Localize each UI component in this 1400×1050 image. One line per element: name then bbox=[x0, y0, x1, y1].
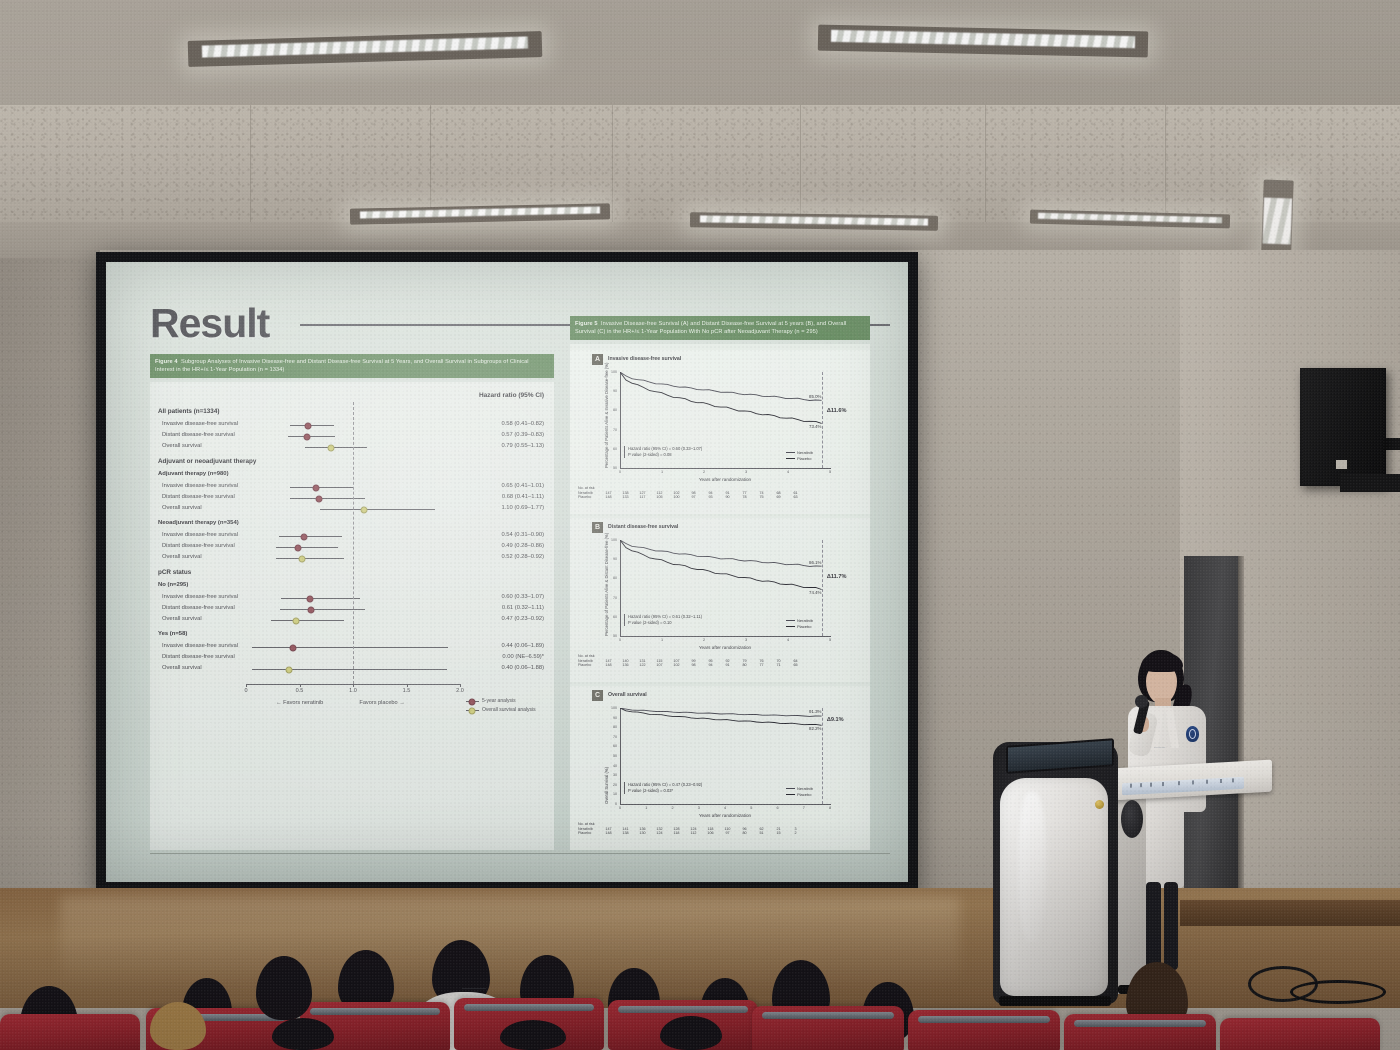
km-risk-cell: 124 bbox=[651, 831, 668, 836]
km-risk-cell: 15 bbox=[770, 831, 787, 836]
km-risk-cell: 97 bbox=[685, 495, 702, 500]
km-x-tick-label: 1 bbox=[645, 806, 647, 810]
forest-plot: Hazard ratio (95% CI)All patients (n=133… bbox=[150, 382, 554, 850]
audience-head bbox=[660, 1016, 722, 1050]
km-x-axis-label: Years after randomization bbox=[620, 813, 830, 818]
km-curve-neratinib bbox=[620, 708, 822, 716]
forest-subgroup-heading: No (n=295) bbox=[158, 582, 188, 588]
slide-footer-rule bbox=[150, 853, 890, 854]
km-curve-placebo bbox=[620, 372, 822, 423]
km-landmark-dashed-line bbox=[822, 540, 823, 636]
forest-row-label: Overall survival bbox=[162, 554, 202, 560]
presenter-leg bbox=[1164, 882, 1178, 970]
km-legend: NeratinibPlacebo bbox=[786, 786, 813, 797]
km-legend-label: Placebo bbox=[797, 456, 811, 461]
projection-screen: Result Figure 4Subgroup Analyses of Inva… bbox=[106, 262, 908, 882]
presentation-slide: Result Figure 4Subgroup Analyses of Inva… bbox=[130, 282, 886, 862]
km-legend-swatch bbox=[786, 458, 795, 459]
km-delta-label: Δ11.6% bbox=[827, 408, 847, 414]
km-x-tick-label: 3 bbox=[745, 470, 747, 474]
seat-headrest-bar bbox=[464, 1004, 594, 1011]
km-legend: NeratinibPlacebo bbox=[786, 450, 813, 461]
km-panel-a: AInvasive disease-free survivalPercentag… bbox=[570, 350, 870, 514]
auditorium-seat bbox=[1220, 1018, 1380, 1050]
km-risk-cell: 91 bbox=[719, 663, 736, 668]
forest-point-estimate-marker bbox=[305, 422, 312, 429]
km-risk-table: No. at riskNeratinib14714013111510799959… bbox=[578, 654, 804, 668]
km-landmark-dashed-line bbox=[822, 708, 823, 804]
km-y-tick-label: 80 bbox=[608, 576, 617, 580]
forest-row-hazard-ratio: 0.54 (0.31–0.90) bbox=[458, 532, 544, 538]
forest-ci-line bbox=[281, 598, 360, 599]
seat-headrest-bar bbox=[618, 1006, 748, 1013]
km-legend-swatch bbox=[786, 620, 795, 621]
figure4-forest-plot-panel: Hazard ratio (95% CI)All patients (n=133… bbox=[150, 382, 554, 850]
km-y-tick-label: 70 bbox=[608, 735, 617, 739]
forest-ci-line bbox=[320, 509, 436, 510]
forest-point-estimate-marker bbox=[300, 533, 307, 540]
forest-ci-line bbox=[252, 669, 447, 670]
forest-axis-tick-label: 1.5 bbox=[403, 688, 411, 694]
figure5-km-panel: AInvasive disease-free survivalPercentag… bbox=[570, 344, 870, 850]
km-y-tick-label: 10 bbox=[608, 792, 617, 796]
km-y-axis-label: Percentage of Patients Alive & Distant D… bbox=[604, 533, 609, 636]
km-risk-cell: 112 bbox=[685, 831, 702, 836]
forest-row-label: Overall survival bbox=[162, 616, 202, 622]
km-percent-upper: 91.3% bbox=[809, 709, 821, 714]
km-panel-badge: A bbox=[592, 354, 603, 365]
km-x-tick-label: 3 bbox=[745, 638, 747, 642]
km-risk-cell: 63 bbox=[787, 495, 804, 500]
km-statistics-box: Hazard ratio (95% CI) = 0.61 (0.32–1.11)… bbox=[624, 614, 702, 626]
auditorium-scene: Result Figure 4Subgroup Analyses of Inva… bbox=[0, 0, 1400, 1050]
forest-point-estimate-marker bbox=[293, 617, 300, 624]
km-x-tick-label: 4 bbox=[787, 470, 789, 474]
forest-group-heading: Adjuvant or neoadjuvant therapy bbox=[158, 458, 256, 465]
forest-subgroup-heading: Yes (n=58) bbox=[158, 631, 187, 637]
forest-point-estimate-marker bbox=[360, 506, 367, 513]
km-y-tick-label: 50 bbox=[608, 634, 617, 638]
forest-row-label: Invasive disease-free survival bbox=[162, 532, 238, 538]
km-x-tick-label: 2 bbox=[671, 806, 673, 810]
km-risk-cell: 51 bbox=[753, 831, 770, 836]
forest-row-label: Invasive disease-free survival bbox=[162, 483, 238, 489]
forest-point-estimate-marker bbox=[315, 495, 322, 502]
km-y-tick-label: 100 bbox=[608, 706, 617, 710]
km-legend-swatch bbox=[786, 788, 795, 789]
forest-row-hazard-ratio: 0.68 (0.41–1.11) bbox=[458, 494, 544, 500]
forest-axis-tick-label: 2.0 bbox=[456, 688, 464, 694]
km-risk-cell: 77 bbox=[753, 663, 770, 668]
forest-row-hazard-ratio: 0.49 (0.28–0.86) bbox=[458, 543, 544, 549]
km-y-tick-label: 60 bbox=[608, 615, 617, 619]
km-risk-cell: 75 bbox=[753, 495, 770, 500]
km-risk-cell: 80 bbox=[736, 831, 753, 836]
km-risk-cell: 98 bbox=[685, 663, 702, 668]
forest-row-hazard-ratio: 0.52 (0.28–0.92) bbox=[458, 554, 544, 560]
km-risk-row-name: Placebo bbox=[578, 831, 600, 836]
forest-axis-tick bbox=[300, 684, 301, 687]
km-risk-table: No. at riskNeratinib14713812711210298949… bbox=[578, 486, 804, 500]
slide-title: Result bbox=[150, 300, 269, 347]
forest-row-label: Distant disease-free survival bbox=[162, 432, 235, 438]
forest-axis-tick-label: 0 bbox=[244, 688, 247, 694]
forest-axis-tick bbox=[246, 684, 247, 687]
forest-point-estimate-marker bbox=[307, 595, 314, 602]
forest-axis-tick bbox=[460, 684, 461, 687]
km-x-tick-label: 1 bbox=[661, 638, 663, 642]
forest-row-label: Distant disease-free survival bbox=[162, 494, 235, 500]
forest-favors-right-label: Favors placebo → bbox=[359, 700, 404, 706]
km-risk-cell: 69 bbox=[770, 495, 787, 500]
km-risk-cell: 122 bbox=[634, 663, 651, 668]
forest-point-estimate-marker bbox=[285, 666, 292, 673]
forest-row-hazard-ratio: 1.10 (0.69–1.77) bbox=[458, 505, 544, 511]
km-y-tick-label: 60 bbox=[608, 447, 617, 451]
forest-row-hazard-ratio: 0.58 (0.41–0.82) bbox=[458, 421, 544, 427]
km-risk-cell: 130 bbox=[634, 831, 651, 836]
presenter-bangs bbox=[1141, 652, 1183, 672]
podium-base-foot bbox=[999, 996, 1111, 1006]
km-panel-title: Invasive disease-free survival bbox=[608, 356, 681, 362]
km-statistics-box: Hazard ratio (95% CI) = 0.47 (0.23–0.92)… bbox=[624, 782, 702, 794]
km-risk-row: Placebo14813612210710298949180777165 bbox=[578, 663, 804, 668]
presenter-coat-nametag: ＿＿＿ bbox=[1154, 744, 1165, 749]
km-panel-badge: B bbox=[592, 522, 603, 533]
km-x-tick-label: 6 bbox=[776, 806, 778, 810]
km-panel-c: COverall survivalOverall Survival (%)100… bbox=[570, 686, 870, 850]
forest-axis-tick-label: 0.5 bbox=[296, 688, 304, 694]
km-x-axis-label: Years after randomization bbox=[620, 645, 830, 650]
km-risk-cell: 80 bbox=[736, 663, 753, 668]
km-legend-swatch bbox=[786, 794, 795, 795]
hazard-ratio-header: Hazard ratio (95% CI) bbox=[458, 392, 544, 399]
km-risk-cell: 148 bbox=[600, 495, 617, 500]
km-y-tick-label: 100 bbox=[608, 370, 617, 374]
forest-axis-tick bbox=[353, 684, 354, 687]
speaker-mount-arm bbox=[1340, 474, 1400, 492]
forest-row-label: Distant disease-free survival bbox=[162, 654, 235, 660]
km-risk-cell: 97 bbox=[719, 831, 736, 836]
km-risk-cell: 133 bbox=[617, 495, 634, 500]
auditorium-seat bbox=[0, 1014, 140, 1050]
km-y-tick-label: 70 bbox=[608, 428, 617, 432]
forest-row-label: Distant disease-free survival bbox=[162, 605, 235, 611]
floor-cable bbox=[1290, 980, 1386, 1004]
km-risk-cell: 148 bbox=[600, 663, 617, 668]
km-legend-label: Neratinib bbox=[797, 786, 813, 791]
podium-front-panel bbox=[1000, 778, 1108, 996]
podium-highlight bbox=[1018, 792, 1046, 942]
km-risk-cell: 136 bbox=[617, 663, 634, 668]
km-percent-upper: 85.0% bbox=[809, 394, 821, 399]
km-legend-entry: Placebo bbox=[786, 792, 813, 798]
km-x-tick-label: 7 bbox=[803, 806, 805, 810]
km-y-tick-label: 50 bbox=[608, 754, 617, 758]
km-x-tick-label: 2 bbox=[703, 638, 705, 642]
km-y-tick-label: 90 bbox=[608, 389, 617, 393]
km-y-tick-label: 40 bbox=[608, 764, 617, 768]
km-x-tick-label: 5 bbox=[829, 638, 831, 642]
km-legend-label: Placebo bbox=[797, 792, 811, 797]
podium-speaker-vent bbox=[1121, 800, 1143, 838]
km-risk-cell: 65 bbox=[787, 663, 804, 668]
seat-headrest-bar bbox=[1074, 1020, 1206, 1027]
km-percent-lower: 74.4% bbox=[809, 590, 821, 595]
forest-row-label: Distant disease-free survival bbox=[162, 543, 235, 549]
km-x-tick-label: 8 bbox=[829, 806, 831, 810]
km-risk-cell: 148 bbox=[600, 831, 617, 836]
forest-point-estimate-marker bbox=[298, 555, 305, 562]
km-risk-cell: 105 bbox=[651, 495, 668, 500]
forest-row-hazard-ratio: 0.47 (0.23–0.92) bbox=[458, 616, 544, 622]
forest-row-hazard-ratio: 0.79 (0.55–1.13) bbox=[458, 443, 544, 449]
forest-ci-line bbox=[276, 547, 338, 548]
km-risk-cell: 94 bbox=[702, 663, 719, 668]
figure5-caption-bar: Figure 5Invasive Disease-free Survival (… bbox=[570, 316, 870, 340]
km-legend-entry: Placebo bbox=[786, 456, 813, 462]
forest-legend-marker bbox=[469, 698, 476, 705]
forest-ci-line bbox=[271, 620, 345, 621]
forest-row-hazard-ratio: 0.00 (NE–6.59)* bbox=[458, 654, 544, 660]
forest-group-heading: All patients (n=1334) bbox=[158, 408, 219, 415]
figure4-caption: Subgroup Analyses of Invasive Disease-fr… bbox=[155, 359, 529, 373]
forest-ci-line bbox=[290, 487, 354, 488]
km-curve-neratinib bbox=[620, 372, 822, 401]
forest-row-label: Invasive disease-free survival bbox=[162, 643, 238, 649]
km-y-tick-label: 20 bbox=[608, 783, 617, 787]
km-panel-b: BDistant disease-free survivalPercentage… bbox=[570, 518, 870, 682]
km-risk-cell: 106 bbox=[702, 831, 719, 836]
forest-point-estimate-marker bbox=[303, 433, 310, 440]
forest-point-estimate-marker bbox=[290, 644, 297, 651]
km-y-axis-label: Percentage of Patients Alive & Invasive … bbox=[604, 363, 609, 468]
km-x-tick-label: 4 bbox=[724, 806, 726, 810]
km-y-tick-label: 30 bbox=[608, 773, 617, 777]
km-percent-lower: 82.2% bbox=[809, 726, 821, 731]
forest-row-label: Invasive disease-free survival bbox=[162, 421, 238, 427]
km-panel-badge: C bbox=[592, 690, 603, 701]
km-risk-row-name: Placebo bbox=[578, 663, 600, 668]
km-x-tick-label: 5 bbox=[750, 806, 752, 810]
km-panel-title: Distant disease-free survival bbox=[608, 524, 678, 530]
km-risk-cell: 117 bbox=[634, 495, 651, 500]
km-y-tick-label: 70 bbox=[608, 596, 617, 600]
podium-indicator-light bbox=[1095, 800, 1104, 809]
km-y-tick-label: 80 bbox=[608, 725, 617, 729]
forest-ci-line bbox=[290, 425, 334, 426]
km-statistic-line: P value (2-sided) = 0.08 bbox=[628, 452, 702, 458]
km-x-tick-label: 3 bbox=[698, 806, 700, 810]
audience-head bbox=[272, 1018, 334, 1050]
km-x-tick-label: 0 bbox=[619, 806, 621, 810]
figure5-caption: Invasive Disease-free Survival (A) and D… bbox=[575, 321, 846, 335]
km-x-tick-label: 4 bbox=[787, 638, 789, 642]
km-risk-row: Placebo14813311710510097939078756963 bbox=[578, 495, 804, 500]
presenter-lower-garment bbox=[1140, 808, 1184, 888]
km-y-tick-label: 0 bbox=[608, 802, 617, 806]
km-landmark-dashed-line bbox=[822, 372, 823, 468]
seat-headrest-bar bbox=[310, 1008, 440, 1015]
microphone-head bbox=[1135, 695, 1148, 708]
forest-ci-line bbox=[276, 558, 344, 559]
wall-speaker bbox=[1300, 368, 1386, 486]
forest-row-hazard-ratio: 0.57 (0.39–0.83) bbox=[458, 432, 544, 438]
forest-row-label: Overall survival bbox=[162, 443, 202, 449]
km-risk-cell: 71 bbox=[770, 663, 787, 668]
presenter-coat-emblem bbox=[1186, 726, 1199, 742]
km-y-tick-label: 90 bbox=[608, 557, 617, 561]
km-statistic-line: P value (2-sided) = 0.10 bbox=[628, 620, 702, 626]
km-legend-label: Neratinib bbox=[797, 618, 813, 623]
presenter-leg bbox=[1146, 882, 1161, 974]
km-risk-row-name: Placebo bbox=[578, 495, 600, 500]
forest-row-hazard-ratio: 0.60 (0.33–1.07) bbox=[458, 594, 544, 600]
seat-headrest-bar bbox=[918, 1016, 1050, 1023]
km-x-tick-label: 5 bbox=[829, 470, 831, 474]
forest-null-reference-line bbox=[353, 402, 355, 684]
figure4-caption-bar: Figure 4Subgroup Analyses of Invasive Di… bbox=[150, 354, 554, 378]
forest-point-estimate-marker bbox=[308, 606, 315, 613]
km-legend: NeratinibPlacebo bbox=[786, 618, 813, 629]
forest-row-hazard-ratio: 0.65 (0.41–1.01) bbox=[458, 483, 544, 489]
km-risk-cell: 107 bbox=[651, 663, 668, 668]
door-jamb bbox=[1238, 556, 1244, 932]
forest-row-hazard-ratio: 0.44 (0.06–1.89) bbox=[458, 643, 544, 649]
forest-ci-line bbox=[305, 447, 367, 448]
forest-subgroup-heading: Neoadjuvant therapy (n=354) bbox=[158, 520, 239, 526]
km-risk-cell: 102 bbox=[668, 663, 685, 668]
km-risk-cell: 138 bbox=[617, 831, 634, 836]
forest-subgroup-heading: Adjuvant therapy (n=980) bbox=[158, 471, 229, 477]
forest-point-estimate-marker bbox=[295, 544, 302, 551]
km-percent-upper: 86.1% bbox=[809, 560, 821, 565]
km-x-tick-label: 1 bbox=[661, 470, 663, 474]
km-y-tick-label: 100 bbox=[608, 538, 617, 542]
km-y-tick-label: 90 bbox=[608, 716, 617, 720]
km-risk-cell: 93 bbox=[702, 495, 719, 500]
km-risk-cell: 100 bbox=[668, 495, 685, 500]
forest-point-estimate-marker bbox=[312, 484, 319, 491]
km-risk-table: No. at riskNeratinib14714113613212812411… bbox=[578, 822, 804, 836]
km-y-tick-label: 80 bbox=[608, 408, 617, 412]
km-risk-cell: 90 bbox=[719, 495, 736, 500]
km-x-tick-label: 2 bbox=[703, 470, 705, 474]
km-x-tick-label: 0 bbox=[619, 638, 621, 642]
km-risk-cell: 118 bbox=[668, 831, 685, 836]
km-legend-entry: Placebo bbox=[786, 624, 813, 630]
forest-row-label: Overall survival bbox=[162, 505, 202, 511]
km-delta-label: Δ11.7% bbox=[827, 574, 847, 580]
km-legend-swatch bbox=[786, 626, 795, 627]
km-risk-row: Placebo148138130124118112106978051152 bbox=[578, 831, 804, 836]
figure4-label: Figure 4 bbox=[155, 358, 181, 366]
km-curve-neratinib bbox=[620, 540, 822, 566]
km-legend-swatch bbox=[786, 452, 795, 453]
km-legend-label: Placebo bbox=[797, 624, 811, 629]
km-percent-lower: 73.4% bbox=[809, 424, 821, 429]
km-x-tick-label: 0 bbox=[619, 470, 621, 474]
km-delta-label: Δ9.1% bbox=[827, 717, 844, 723]
forest-axis-tick-label: 1.0 bbox=[349, 688, 357, 694]
forest-ci-line bbox=[288, 436, 335, 437]
km-legend-label: Neratinib bbox=[797, 450, 813, 455]
seat-headrest-bar bbox=[762, 1012, 894, 1019]
forest-legend-marker bbox=[469, 707, 476, 714]
forest-favors-left-label: ← Favors neratinib bbox=[276, 700, 323, 706]
forest-legend-label: 5-year analysis bbox=[482, 698, 516, 704]
km-x-axis-label: Years after randomization bbox=[620, 477, 830, 482]
km-statistic-line: P value (2-sided) = 0.03* bbox=[628, 788, 702, 794]
eyeglasses-icon bbox=[462, 988, 486, 989]
forest-ci-line bbox=[279, 536, 342, 537]
km-statistics-box: Hazard ratio (95% CI) = 0.60 (0.33–1.07)… bbox=[624, 446, 702, 458]
km-y-tick-label: 50 bbox=[608, 466, 617, 470]
audience-head bbox=[500, 1020, 566, 1050]
km-risk-cell: 78 bbox=[736, 495, 753, 500]
figure5-label: Figure 5 bbox=[575, 320, 601, 328]
km-risk-cell: 2 bbox=[787, 831, 804, 836]
forest-group-heading: pCR status bbox=[158, 569, 191, 576]
forest-ci-line bbox=[252, 647, 448, 648]
forest-axis-tick bbox=[407, 684, 408, 687]
forest-legend-label: Overall survival analysis bbox=[482, 707, 536, 713]
forest-point-estimate-marker bbox=[327, 444, 334, 451]
speaker-badge-icon bbox=[1336, 460, 1347, 469]
forest-row-hazard-ratio: 0.61 (0.32–1.11) bbox=[458, 605, 544, 611]
forest-row-label: Overall survival bbox=[162, 665, 202, 671]
forest-row-hazard-ratio: 0.40 (0.06–1.88) bbox=[458, 665, 544, 671]
forest-row-label: Invasive disease-free survival bbox=[162, 594, 238, 600]
km-panel-title: Overall survival bbox=[608, 692, 647, 698]
km-y-tick-label: 60 bbox=[608, 744, 617, 748]
